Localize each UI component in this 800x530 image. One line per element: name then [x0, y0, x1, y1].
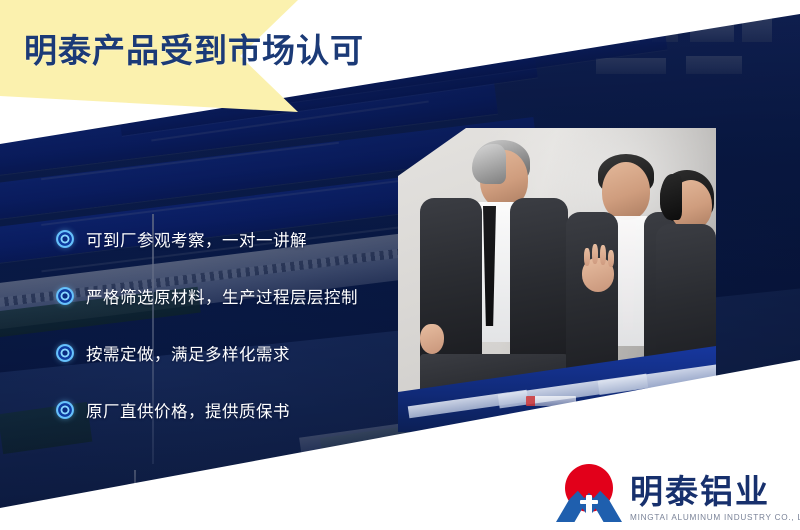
target-circle-icon [56, 230, 74, 248]
list-item: 按需定做，满足多样化需求 [56, 324, 396, 381]
feature-list: 可到厂参观考察，一对一讲解 严格筛选原材料，生产过程层层控制 按需定做，满足多样… [56, 210, 396, 438]
list-item-label: 按需定做，满足多样化需求 [86, 341, 290, 365]
logo-text-block: 明泰铝业 MINGTAI ALUMINUM INDUSTRY CO., LTD [630, 475, 800, 524]
page-title: 明泰产品受到市场认可 [24, 24, 364, 72]
list-item-label: 可到厂参观考察，一对一讲解 [86, 227, 307, 251]
mountain-cross-icon [580, 500, 598, 504]
target-circle-icon [56, 287, 74, 305]
list-item: 原厂直供价格，提供质保书 [56, 381, 396, 438]
logo-chinese-name: 明泰铝业 [630, 475, 800, 510]
target-circle-icon [56, 344, 74, 362]
list-item-label: 原厂直供价格，提供质保书 [86, 398, 290, 422]
logo-english-name: MINGTAI ALUMINUM INDUSTRY CO., LTD [630, 513, 800, 522]
mingtai-sun-mountain-icon [556, 464, 622, 524]
promo-banner: 明泰产品受到市场认可 [0, 0, 800, 530]
company-logo: 明泰铝业 MINGTAI ALUMINUM INDUSTRY CO., LTD [556, 458, 794, 524]
list-item: 严格筛选原材料，生产过程层层控制 [56, 267, 396, 324]
list-item: 可到厂参观考察，一对一讲解 [56, 210, 396, 267]
list-item-label: 严格筛选原材料，生产过程层层控制 [86, 284, 358, 308]
target-circle-icon [56, 401, 74, 419]
